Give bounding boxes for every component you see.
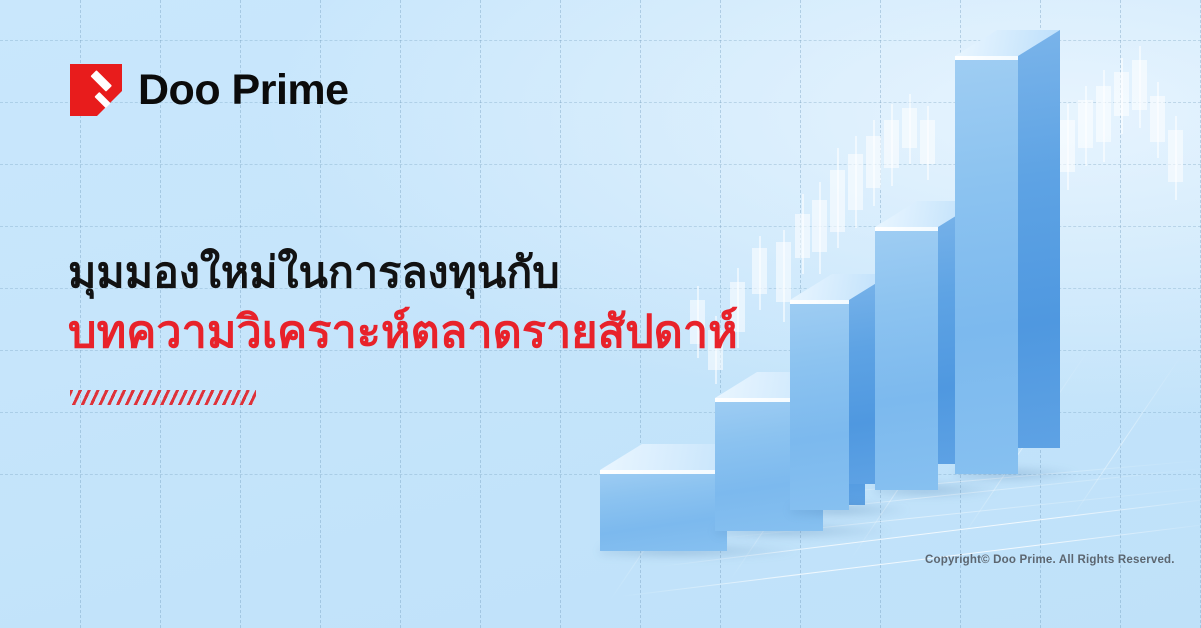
- brand-logo-text: Doo Prime: [138, 69, 349, 112]
- headline-line-1: มุมมองใหม่ในการลงทุนกับ: [68, 248, 738, 299]
- doo-prime-logomark-icon: [70, 64, 122, 116]
- headline-striped-rule: [70, 390, 256, 405]
- headline-line-2: บทความวิเคราะห์ตลาดรายสัปดาห์: [68, 305, 738, 358]
- bar-top-highlight: [790, 300, 849, 304]
- bar-top-highlight: [600, 470, 727, 474]
- bar-front-face: [875, 227, 938, 490]
- bar-front-face: [600, 470, 727, 551]
- bar-side-face: [1018, 30, 1060, 448]
- chart-bar-5: [955, 30, 1060, 474]
- bar-front-face: [790, 300, 849, 510]
- headline-block: มุมมองใหม่ในการลงทุนกับ บทความวิเคราะห์ต…: [68, 248, 738, 358]
- bar-front-face: [955, 56, 1018, 474]
- bar-top-highlight: [875, 227, 938, 231]
- brand-logo[interactable]: Doo Prime: [70, 64, 349, 116]
- bar-top-highlight: [955, 56, 1018, 60]
- poster-canvas: Doo Prime มุมมองใหม่ในการลงทุนกับ บทความ…: [0, 0, 1201, 628]
- copyright-text: Copyright© Doo Prime. All Rights Reserve…: [925, 554, 1175, 566]
